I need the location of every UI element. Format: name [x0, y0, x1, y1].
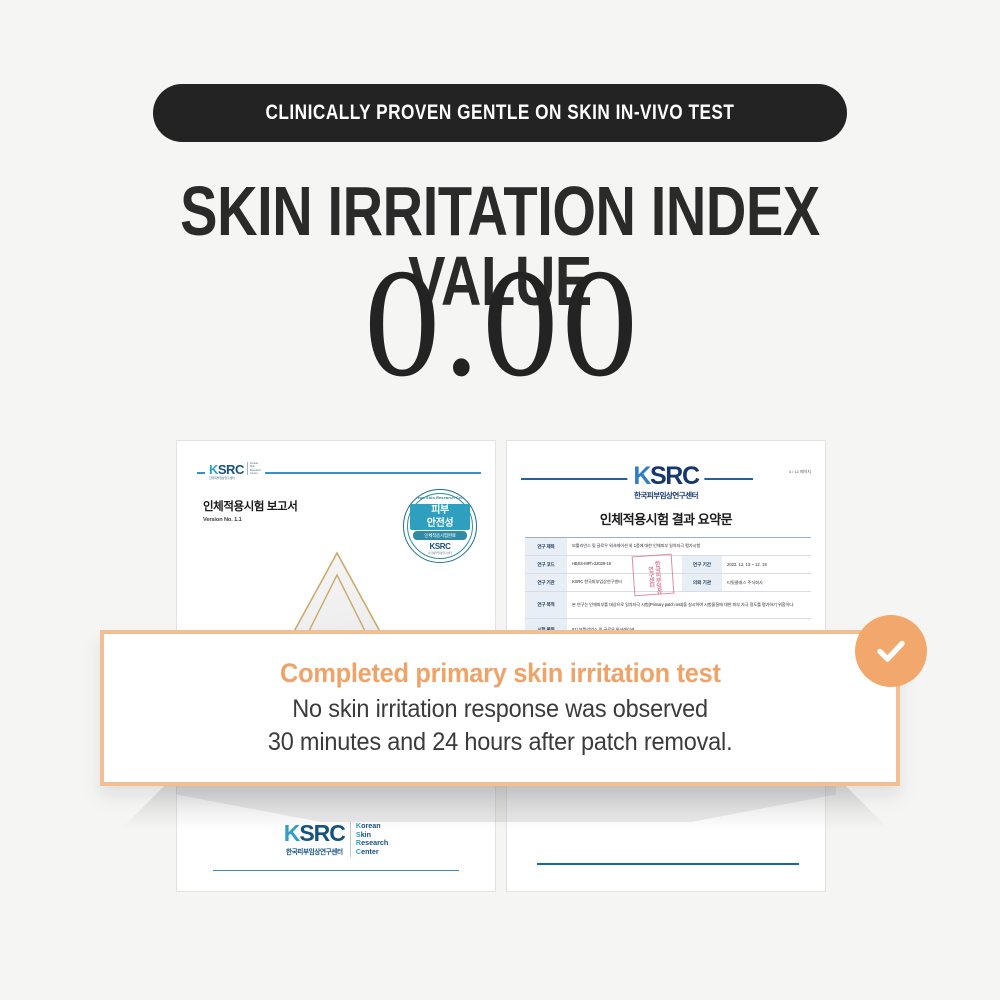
row-label: 연구 제목	[525, 538, 567, 555]
check-badge	[855, 615, 927, 687]
seal-main-text: 피부 안전성	[410, 504, 470, 530]
ksrc-logo-small: KSRC KoreanSkinResearchCenter	[205, 463, 265, 476]
ksrc-logo-korean: 한국피부임상연구센터	[209, 476, 235, 480]
ksrc-logo-summary: KSRC 한국피부임상연구센터	[627, 464, 704, 501]
row-value-secondary: 2022. 12. 13 ~ 12. 19	[722, 556, 811, 573]
report-version: Version No. 1.1	[203, 517, 242, 523]
report-header: KSRC KoreanSkinResearchCenter 한국피부임상연구센터	[197, 463, 481, 481]
row-label: 연구 목적	[525, 592, 567, 618]
row-value: 본 연구는 인체피부를 대상으로 일차자극 시험(Primary patch t…	[567, 592, 811, 618]
summary-footer-rule	[537, 863, 799, 865]
ksrc-footer-wordmark: KSRC	[284, 822, 345, 845]
official-stamp: 한국피부임상연구센터	[632, 554, 675, 597]
promo-graphic: CLINICALLY PROVEN GENTLE ON SKIN IN-VIVO…	[0, 0, 1000, 1000]
top-badge-label: CLINICALLY PROVEN GENTLE ON SKIN IN-VIVO…	[266, 101, 735, 125]
row-label-secondary: 연구 기간	[682, 556, 722, 573]
page-note: 4 / 12 페이지	[789, 469, 811, 475]
index-value: 0.00	[0, 258, 1000, 399]
top-badge: CLINICALLY PROVEN GENTLE ON SKIN IN-VIVO…	[153, 84, 847, 142]
callout-heading: Completed primary skin irritation test	[280, 658, 721, 689]
report-title: 인체적용시험 보고서	[203, 498, 297, 514]
row-value-secondary: 티핏클래스 주식회사	[722, 574, 811, 591]
footer-sub-4: Center	[356, 847, 379, 856]
ksrc-wordmark: KSRC	[209, 463, 244, 476]
check-icon	[871, 631, 911, 671]
seal-line-2: 안전성	[427, 518, 453, 529]
ksrc-footer-korean: 한국피부임상연구센터	[284, 846, 345, 856]
row-label: 연구 코드	[525, 556, 567, 573]
callout-line-1: No skin irritation response was observed	[292, 693, 708, 726]
summary-title: 인체적용시험 결과 요약문	[507, 509, 825, 528]
row-label: 연구 기관	[525, 574, 567, 591]
footer-sub-3: Research	[356, 838, 388, 847]
summary-header: 4 / 12 페이지 KSRC 한국피부임상연구센터	[521, 467, 811, 497]
ksrc-logo-subtitle: KoreanSkinResearchCenter	[247, 462, 261, 475]
result-callout: Completed primary skin irritation test N…	[100, 630, 900, 786]
table-row: 연구 목적 본 연구는 인체피부를 대상으로 일차자극 시험(Primary p…	[525, 592, 811, 619]
footer-sub-1: Korean	[356, 821, 381, 830]
ksrc-summary-korean: 한국피부임상연구센터	[633, 490, 698, 501]
index-value-text: 0.00	[362, 252, 639, 404]
callout-line-2: 30 minutes and 24 hours after patch remo…	[268, 726, 733, 759]
ksrc-footer-subtitle: Korean Skin Research Center	[350, 822, 388, 857]
footer-rule	[213, 870, 459, 871]
ksrc-summary-wordmark: KSRC	[633, 464, 698, 489]
seal-line-1: 피부	[431, 505, 449, 516]
report-footer: KSRC 한국피부임상연구센터 Korean Skin Research Cen…	[177, 822, 495, 857]
ksrc-logo-large: KSRC 한국피부임상연구센터 Korean Skin Research Cen…	[284, 822, 389, 857]
footer-sub-2: Skin	[356, 830, 371, 839]
row-value: 보틀리언스 및 글로우 워셔레이션 외 1품에 대한 인체피부 일차자극 평가시…	[567, 538, 811, 555]
row-label-secondary: 의뢰 기관	[682, 574, 722, 591]
